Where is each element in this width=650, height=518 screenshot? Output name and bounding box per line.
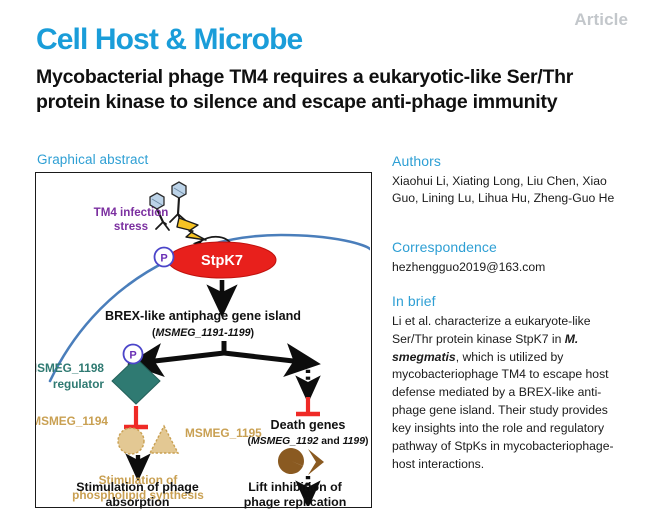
page-title: Mycobacterial phage TM4 requires a eukar… xyxy=(36,65,621,116)
graphical-abstract-heading: Graphical abstract xyxy=(37,152,148,167)
msmeg1194-circle xyxy=(118,428,144,454)
infection-stress-label-line1: TM4 infection xyxy=(94,206,169,219)
outcome-left-line1: Stimulation of phage xyxy=(50,480,225,495)
outcome-right: Lift inhibition of phage replication xyxy=(220,480,370,510)
authors-list: Xiaohui Li, Xiating Long, Liu Chen, Xiao… xyxy=(392,173,630,208)
outcome-right-line1: Lift inhibition of xyxy=(220,480,370,495)
inhibition-bar-right xyxy=(296,397,320,414)
lightning-bolt-icon xyxy=(177,218,206,240)
outcome-left-line2: absorption xyxy=(50,495,225,510)
in-brief-part1: Li et al. characterize a eukaryote-like … xyxy=(392,314,590,346)
death-shape-pac xyxy=(274,444,308,478)
graphical-abstract-figure: TM4 infection stress StpK7 P BREX-like a… xyxy=(35,172,372,508)
death-shape-chevron xyxy=(308,449,324,475)
branch-arrow-left xyxy=(146,353,224,362)
gene-island-locus: (MSMEG_1191-1199) xyxy=(152,327,254,339)
phospho-badge-kinase-label: P xyxy=(160,253,167,265)
regulator-role-label: regulator xyxy=(53,377,105,391)
in-brief-heading: In brief xyxy=(392,293,436,309)
inhibition-bar-left xyxy=(124,406,148,427)
gene-island-label: BREX-like antiphage gene island xyxy=(105,309,301,323)
phage-particle-right xyxy=(170,182,186,225)
msmeg1194-label: MSMEG_1194 xyxy=(36,414,108,428)
msmeg1195-triangle xyxy=(150,426,178,453)
stpk7-kinase-label: StpK7 xyxy=(201,253,243,269)
infection-stress-label-line2: stress xyxy=(114,220,148,233)
in-brief-part2: , which is utilized by mycobacteriophage… xyxy=(392,350,614,471)
death-genes-locus: (MSMEG_1192 and 1199) xyxy=(248,436,369,447)
correspondence-email[interactable]: hezhengguo2019@163.com xyxy=(392,259,630,276)
msmeg1198-regulator-diamond xyxy=(112,358,160,404)
branch-arrow-right xyxy=(224,353,302,362)
correspondence-heading: Correspondence xyxy=(392,239,497,255)
msmeg1198-label: MSMEG_1198 xyxy=(36,361,104,375)
outcome-right-line2: phage replication xyxy=(220,495,370,510)
authors-heading: Authors xyxy=(392,153,441,169)
death-genes-label: Death genes xyxy=(271,418,346,432)
in-brief-text: Li et al. characterize a eukaryote-like … xyxy=(392,313,630,473)
outcome-left: Stimulation of phage absorption xyxy=(50,480,225,510)
article-type-label: Article xyxy=(574,10,628,30)
journal-logo: Cell Host & Microbe xyxy=(36,25,302,55)
phospho-badge-regulator-label: P xyxy=(129,350,136,362)
